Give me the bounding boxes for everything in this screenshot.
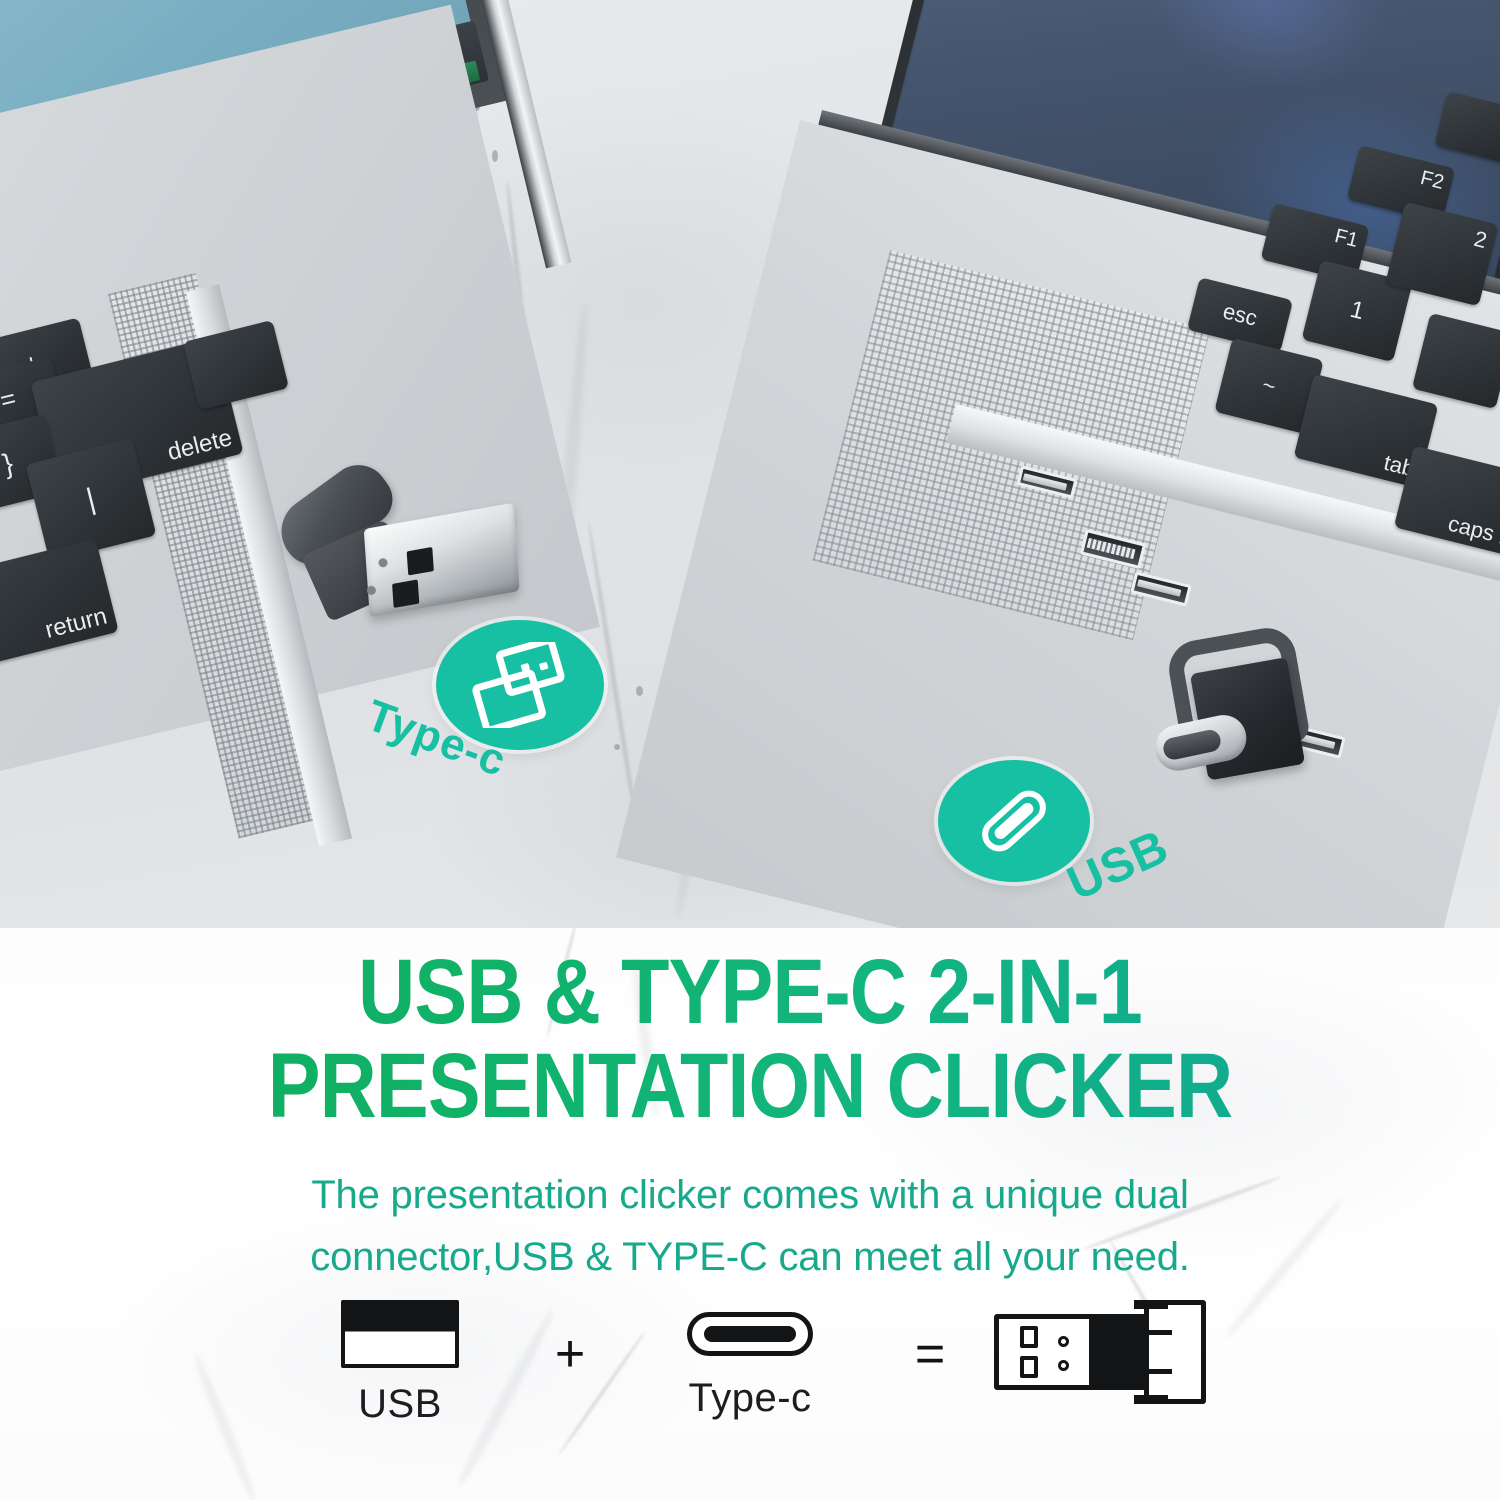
combo-dot xyxy=(1058,1360,1069,1371)
usb-a-icon xyxy=(341,1300,459,1368)
equation-usb-cell: USB xyxy=(285,1300,515,1427)
usb-a-label: USB xyxy=(358,1382,442,1427)
combo-dot xyxy=(1058,1336,1069,1347)
marble-speck xyxy=(492,150,498,162)
combo-cap-hinge-top xyxy=(1134,1300,1168,1309)
connector-equation: USB + Type-c = xyxy=(0,1300,1500,1470)
marble-speck xyxy=(636,686,643,696)
type-c-label: Type-c xyxy=(688,1376,811,1421)
combo-usb-head xyxy=(994,1314,1094,1390)
usb-a-connector-icon xyxy=(468,642,572,728)
dual-connector-device-icon xyxy=(994,1300,1206,1404)
text-panel: USB & TYPE-C 2-IN-1 PRESENTATION CLICKER… xyxy=(0,928,1500,1500)
type-c-icon xyxy=(687,1312,813,1356)
equation-result-cell xyxy=(985,1300,1215,1404)
combo-cap-detail xyxy=(1144,1330,1172,1335)
page-title: USB & TYPE-C 2-IN-1 PRESENTATION CLICKER xyxy=(105,946,1395,1134)
usb-a-slot xyxy=(407,547,434,576)
usb-a-slot xyxy=(392,579,419,608)
product-marketing-image: 92% ∧ 英 拼 09:46 2021-2-27 + = delete } |… xyxy=(0,0,1500,1500)
equation-typec-cell: Type-c xyxy=(625,1300,875,1421)
page-subtitle: The presentation clicker comes with a un… xyxy=(0,1164,1500,1288)
marble-speck xyxy=(614,744,620,750)
combo-rotating-cap xyxy=(1144,1300,1206,1404)
equals-operator: = xyxy=(875,1300,985,1380)
plus-operator: + xyxy=(515,1300,625,1380)
combo-slot xyxy=(1020,1356,1038,1378)
combo-slot xyxy=(1020,1326,1038,1348)
combo-cap-detail xyxy=(1144,1369,1172,1374)
type-c-connector-icon xyxy=(966,773,1062,869)
combo-cap-hinge-bottom xyxy=(1134,1395,1168,1404)
product-photo-panel: 92% ∧ 英 拼 09:46 2021-2-27 + = delete } |… xyxy=(0,0,1500,928)
combo-body xyxy=(1090,1314,1152,1390)
